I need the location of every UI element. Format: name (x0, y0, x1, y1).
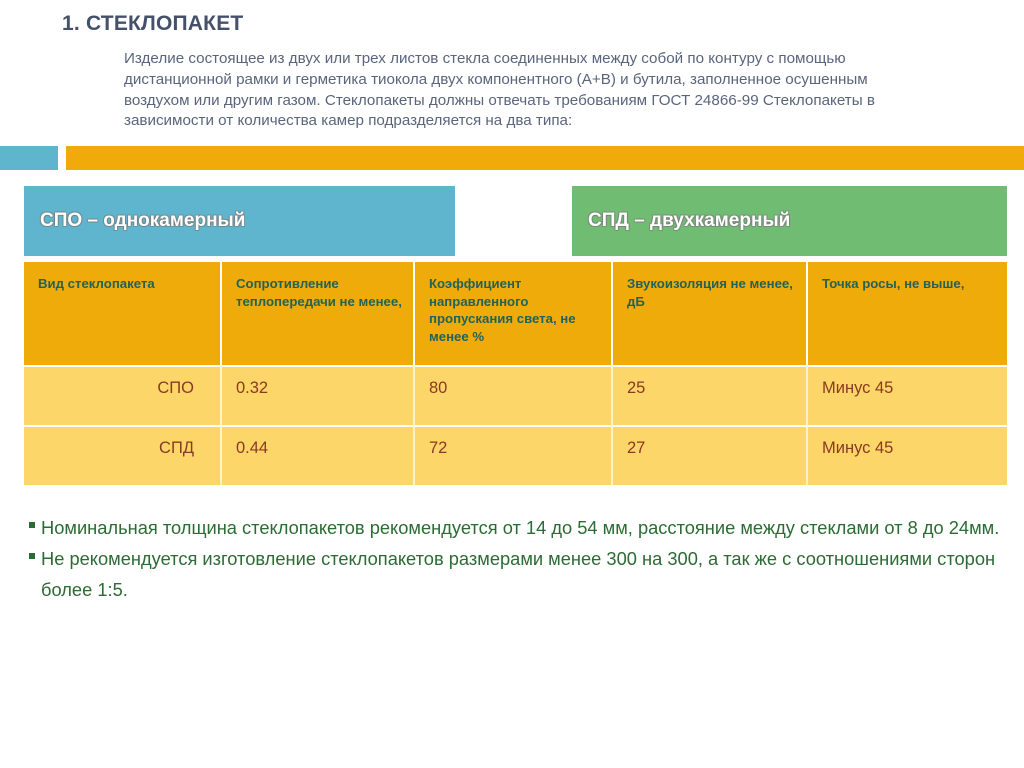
intro-paragraph-text: Изделие состоящее из двух или трех листо… (124, 49, 924, 132)
cell-light-transmission: 80 (415, 365, 613, 425)
category-label-spd: СПД – двухкамерный (588, 210, 790, 232)
category-label-spo: СПО – однокамерный (40, 210, 245, 232)
cell-dew-point: Минус 45 (808, 365, 1007, 425)
cell-sound-insulation: 27 (613, 425, 808, 485)
cell-dew-point: Минус 45 (808, 425, 1007, 485)
square-bullet-icon (29, 553, 35, 559)
list-item: Номинальная толщина стеклопакетов рекоме… (28, 512, 1003, 543)
table-header-row: Вид стеклопакета Сопротивление теплопере… (24, 262, 1007, 365)
specification-table: Вид стеклопакета Сопротивление теплопере… (24, 262, 1007, 485)
table-row: СПО 0.32 80 25 Минус 45 (24, 365, 1007, 425)
column-header-type: Вид стеклопакета (24, 262, 222, 365)
list-item-label: Номинальная толщина стеклопакетов рекоме… (41, 517, 999, 538)
cell-heat-resistance: 0.32 (222, 365, 415, 425)
page-title: 1. СТЕКЛОПАКЕТ (62, 12, 243, 36)
cell-type: СПО (24, 365, 222, 425)
category-box-spo: СПО – однокамерный (24, 186, 455, 256)
column-header-light-transmission: Коэффициент направленного пропускания св… (415, 262, 613, 365)
column-header-sound-insulation: Звукоизоляция не менее, дБ (613, 262, 808, 365)
cell-sound-insulation: 25 (613, 365, 808, 425)
table-row: СПД 0.44 72 27 Минус 45 (24, 425, 1007, 485)
list-item-label: Не рекомендуется изготовление стеклопаке… (41, 548, 995, 600)
notes-list: Номинальная толщина стеклопакетов рекоме… (28, 512, 1003, 605)
category-box-spd: СПД – двухкамерный (572, 186, 1007, 256)
cell-type: СПД (24, 425, 222, 485)
accent-bar-orange (66, 146, 1024, 170)
square-bullet-icon (29, 522, 35, 528)
list-item: Не рекомендуется изготовление стеклопаке… (28, 543, 1003, 605)
column-header-heat-resistance: Сопротивление теплопередачи не менее, (222, 262, 415, 365)
accent-bar-teal (0, 146, 58, 170)
intro-paragraph: Изделие состоящее из двух или трех листо… (124, 49, 924, 132)
cell-light-transmission: 72 (415, 425, 613, 485)
cell-heat-resistance: 0.44 (222, 425, 415, 485)
column-header-dew-point: Точка росы, не выше, (808, 262, 1007, 365)
